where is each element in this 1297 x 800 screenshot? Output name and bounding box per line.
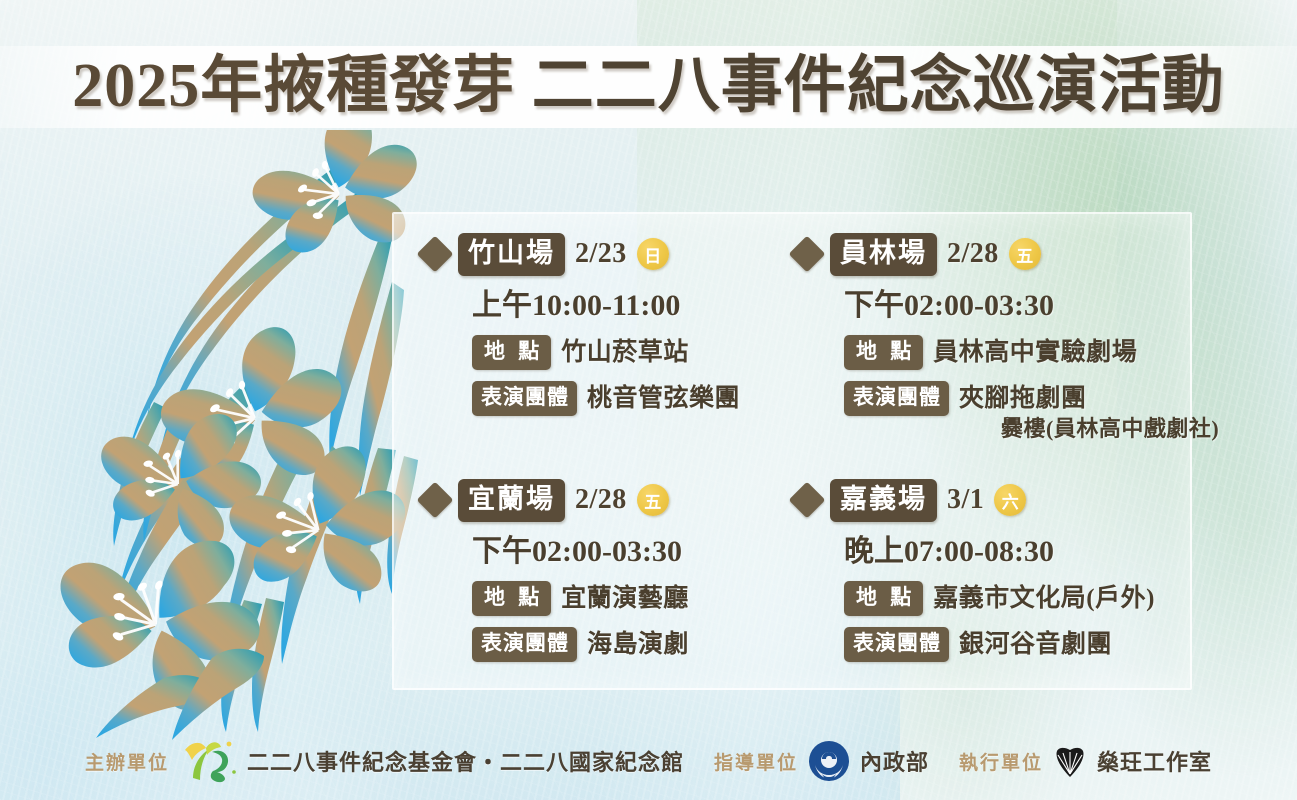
executor-group: 執行單位 燊玨工作室 xyxy=(959,744,1212,778)
venue-label: 地 點 xyxy=(844,335,923,370)
schedule-grid: 竹山場 2/23 日 上午10:00-11:00 地 點 竹山菸草站 表演團體 … xyxy=(394,214,1190,688)
poster-canvas: 2025年掖種發芽 二二八事件紀念巡演活動 xyxy=(0,0,1297,800)
schedule-panel: 竹山場 2/23 日 上午10:00-11:00 地 點 竹山菸草站 表演團體 … xyxy=(392,212,1192,690)
organizer-caption: 主辦單位 xyxy=(85,748,169,775)
event-time: 上午10:00-11:00 xyxy=(472,280,794,324)
diamond-bullet-icon xyxy=(417,236,454,273)
advisor-group: 指導單位 內政部 xyxy=(714,740,929,782)
event-venue-row: 地 點 嘉義市文化局(戶外) xyxy=(844,581,1222,616)
event-venue-row: 地 點 宜蘭演藝廳 xyxy=(472,581,794,616)
event-name-tag: 竹山場 xyxy=(458,233,565,276)
event-date: 2/28 xyxy=(575,484,627,516)
event-header: 嘉義場 3/1 六 xyxy=(794,478,1222,522)
shell-fan-logo-icon xyxy=(1053,744,1087,778)
diamond-bullet-icon xyxy=(417,482,454,519)
ministry-of-interior-logo-icon xyxy=(808,740,850,782)
event-troupe-row: 表演團體 海島演劇 xyxy=(472,627,794,662)
event-card-yilan: 宜蘭場 2/28 五 下午02:00-03:30 地 點 宜蘭演藝廳 表演團體 … xyxy=(422,478,794,710)
event-venue: 員林高中實驗劇場 xyxy=(933,335,1137,369)
event-venue: 竹山菸草站 xyxy=(561,335,689,369)
advisor-caption: 指導單位 xyxy=(714,748,798,775)
event-name-tag: 嘉義場 xyxy=(830,479,937,522)
troupe-label: 表演團體 xyxy=(844,381,949,416)
event-weekday-badge: 五 xyxy=(1009,238,1041,270)
organizer-group: 主辦單位 二二八事件紀念基金會‧二二八國家紀念館 xyxy=(85,738,684,784)
event-troupe: 夾腳拖劇團 xyxy=(959,385,1087,412)
event-card-yuanlin: 員林場 2/28 五 下午02:00-03:30 地 點 員林高中實驗劇場 表演… xyxy=(794,232,1222,478)
organizer-name: 二二八事件紀念基金會‧二二八國家紀念館 xyxy=(247,745,684,777)
event-troupe-wrap: 夾腳拖劇團 爨樓(員林高中戲劇社) xyxy=(959,381,1219,443)
event-header: 宜蘭場 2/28 五 xyxy=(422,478,794,522)
event-troupe-row: 表演團體 桃音管弦樂團 xyxy=(472,381,794,416)
event-venue: 宜蘭演藝廳 xyxy=(561,581,689,615)
taiwan-lily-illustration xyxy=(36,130,426,740)
venue-label: 地 點 xyxy=(844,581,923,616)
page-title-part2: 二二八事件紀念巡演活動 xyxy=(532,52,1225,120)
event-time: 下午02:00-03:30 xyxy=(844,280,1222,324)
advisor-name: 內政部 xyxy=(860,745,929,777)
event-venue-row: 地 點 員林高中實驗劇場 xyxy=(844,335,1222,370)
executor-name: 燊玨工作室 xyxy=(1097,745,1212,777)
venue-label: 地 點 xyxy=(472,335,551,370)
event-card-chiayi: 嘉義場 3/1 六 晚上07:00-08:30 地 點 嘉義市文化局(戶外) 表… xyxy=(794,478,1222,710)
event-troupe: 海島演劇 xyxy=(587,627,689,661)
event-weekday-badge: 日 xyxy=(637,238,669,270)
troupe-label: 表演團體 xyxy=(472,381,577,416)
event-time: 晚上07:00-08:30 xyxy=(844,526,1222,570)
event-venue-row: 地 點 竹山菸草站 xyxy=(472,335,794,370)
event-card-zhushan: 竹山場 2/23 日 上午10:00-11:00 地 點 竹山菸草站 表演團體 … xyxy=(422,232,794,478)
228-foundation-logo-icon xyxy=(179,738,237,784)
event-header: 員林場 2/28 五 xyxy=(794,232,1222,276)
page-title: 2025年掖種發芽 二二八事件紀念巡演活動 xyxy=(0,43,1297,129)
event-date: 2/23 xyxy=(575,238,627,270)
event-header: 竹山場 2/23 日 xyxy=(422,232,794,276)
footer-credits: 主辦單位 二二八事件紀念基金會‧二二八國家紀念館 指導單位 xyxy=(0,730,1297,792)
event-venue: 嘉義市文化局(戶外) xyxy=(933,581,1155,615)
event-troupe-row: 表演團體 夾腳拖劇團 爨樓(員林高中戲劇社) xyxy=(844,381,1222,443)
event-time: 下午02:00-03:30 xyxy=(472,526,794,570)
event-name-tag: 宜蘭場 xyxy=(458,479,565,522)
executor-caption: 執行單位 xyxy=(959,748,1043,775)
event-weekday-badge: 六 xyxy=(994,484,1026,516)
event-weekday-badge: 五 xyxy=(637,484,669,516)
troupe-label: 表演團體 xyxy=(472,627,577,662)
event-date: 2/28 xyxy=(947,238,999,270)
event-troupe-extra: 爨樓(員林高中戲劇社) xyxy=(959,415,1219,443)
troupe-label: 表演團體 xyxy=(844,627,949,662)
event-name-tag: 員林場 xyxy=(830,233,937,276)
diamond-bullet-icon xyxy=(789,236,826,273)
event-troupe-row: 表演團體 銀河谷音劇團 xyxy=(844,627,1222,662)
event-troupe: 桃音管弦樂團 xyxy=(587,381,740,415)
venue-label: 地 點 xyxy=(472,581,551,616)
diamond-bullet-icon xyxy=(789,482,826,519)
event-troupe: 銀河谷音劇團 xyxy=(959,627,1112,661)
page-title-part1: 2025年掖種發芽 xyxy=(72,52,515,120)
event-date: 3/1 xyxy=(947,484,984,516)
